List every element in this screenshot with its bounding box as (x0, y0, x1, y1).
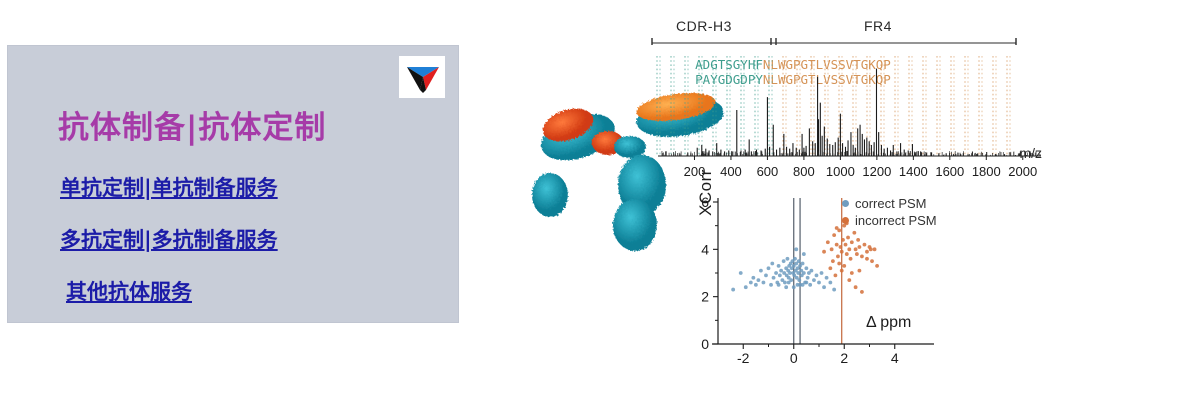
xcorr-scatter-chart: 0246-2024 XCorr Δ ppm correct PSM incorr… (670, 192, 940, 372)
spectrum-tick-2000: 2000 (1008, 164, 1037, 179)
scatter-xtick-4: 4 (891, 350, 899, 366)
page-title: 抗体制备|抗体定制 (58, 102, 326, 147)
logo-chevron-icon (399, 56, 445, 98)
scatter-xtick--2: -2 (737, 350, 750, 366)
scatter-x-axis-label: Δ ppm (866, 314, 911, 332)
legend-label-correct: correct PSM (855, 196, 927, 211)
legend-dot-correct-icon (842, 200, 849, 207)
region-label-fr4: FR4 (864, 18, 892, 34)
spectrum-tick-1000: 1000 (826, 164, 855, 179)
spectrum-tick-1600: 1600 (935, 164, 964, 179)
scatter-ytick-0: 0 (701, 336, 709, 352)
legend-item-incorrect: incorrect PSM (842, 213, 937, 228)
region-label-cdr-h3: CDR-H3 (676, 18, 732, 34)
link-pab-custom[interactable]: 多抗定制|多抗制备服务 (60, 224, 278, 254)
link-other-antibody-services[interactable]: 其他抗体服务 (66, 276, 192, 306)
proteomics-figure: CDR-H3 FR4 ADGTSGYHFNLWGPGTLVSSVTGKQP PA… (520, 0, 1060, 400)
scatter-ytick-4: 4 (701, 241, 709, 257)
scatter-legend: correct PSM incorrect PSM (842, 196, 937, 230)
scatter-xtick-2: 2 (840, 350, 848, 366)
spectrum-tick-1400: 1400 (899, 164, 928, 179)
spectrum-axis-label: m/z (1019, 145, 1042, 161)
spectrum-tick-600: 600 (757, 164, 779, 179)
link-mab-custom[interactable]: 单抗定制|单抗制备服务 (60, 172, 278, 202)
legend-item-correct: correct PSM (842, 196, 937, 211)
company-logo (399, 56, 445, 98)
antibody-service-panel: 抗体制备|抗体定制 单抗定制|单抗制备服务 多抗定制|多抗制备服务 其他抗体服务 (8, 46, 458, 322)
spectrum-tick-1800: 1800 (972, 164, 1001, 179)
legend-label-incorrect: incorrect PSM (855, 213, 937, 228)
spectrum-plot (648, 56, 1048, 174)
spectrum-tick-400: 400 (720, 164, 742, 179)
spectrum-tick-800: 800 (793, 164, 815, 179)
scatter-ytick-2: 2 (701, 289, 709, 305)
spectrum-tick-1200: 1200 (862, 164, 891, 179)
scatter-xtick-0: 0 (790, 350, 798, 366)
scatter-y-axis-label: XCorr (696, 169, 716, 216)
legend-dot-incorrect-icon (842, 217, 849, 224)
